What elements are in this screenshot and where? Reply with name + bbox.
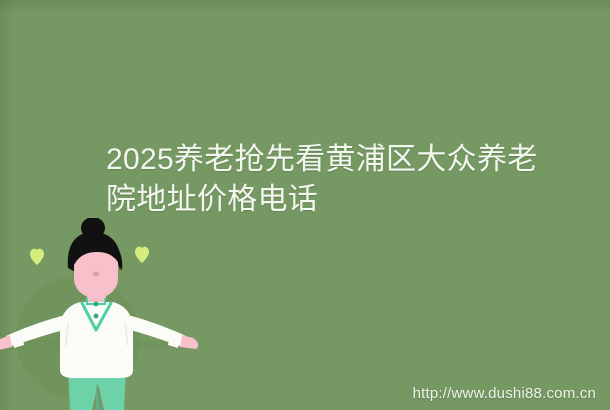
white-sweater xyxy=(60,302,133,378)
heart-left-icon xyxy=(30,249,44,265)
page-title: 2025养老抢先看黄浦区大众养老院地址价格电话 xyxy=(106,140,554,220)
source-url-watermark: http://www.dushi88.com.cn xyxy=(413,385,596,402)
heart-right-icon xyxy=(135,247,149,263)
woman-arms-outstretched-illustration xyxy=(0,218,220,410)
promo-banner: 2025养老抢先看黄浦区大众养老院地址价格电话 http://www.dushi… xyxy=(0,0,610,410)
top-edge-vignette xyxy=(0,0,610,14)
